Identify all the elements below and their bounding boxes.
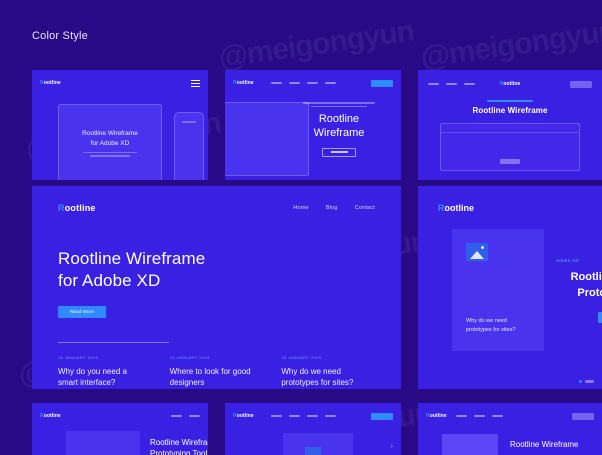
preview-card-main-landing[interactable]: Rootline Home Blog Contact Rootline Wire…: [32, 186, 401, 389]
blog-post-item[interactable]: 15 JANUARY 2019 Why do you need a smart …: [58, 355, 152, 389]
preview-grid: Rootline Rootline Wireframe for Adobe XD…: [0, 0, 602, 455]
blog-post-item[interactable]: 15 JANUARY 2019 Where to look for good d…: [170, 355, 264, 389]
mini-nav-link[interactable]: [307, 82, 318, 84]
preview-card-device-mockup[interactable]: Rootline Rootline Wireframe for Adobe XD: [32, 70, 208, 180]
logo: Rootline: [40, 413, 61, 419]
mini-cta-button[interactable]: [371, 413, 393, 420]
preview-card-split-hero[interactable]: Rootline Rootline Wireframe: [225, 70, 401, 180]
hero-copy: Rootline Wireframe: [287, 102, 391, 157]
mini-nav-link[interactable]: [271, 82, 282, 84]
logo-rest: ootline: [445, 203, 475, 213]
logo-rest: ootline: [430, 413, 447, 419]
logo: Rootline: [233, 413, 254, 419]
mini-nav-links[interactable]: [171, 415, 200, 417]
feature-eyebrow: Adobe XD: [556, 258, 602, 263]
mini-nav-link[interactable]: [446, 83, 457, 85]
mini-navbar: Rootline: [418, 409, 602, 423]
bottom-copy: Rootline Wireframe Prototyping Tool: [150, 437, 208, 455]
mini-nav-link[interactable]: [189, 415, 200, 417]
logo: Rootline: [58, 203, 96, 213]
phone-mockup: [174, 112, 204, 180]
nav-link-contact[interactable]: Contact: [355, 205, 375, 211]
logo: Rootline: [438, 203, 474, 213]
post-title-line1: Why do you need a: [58, 366, 152, 378]
image-placeholder-icon: [305, 447, 321, 455]
nav-link-home[interactable]: Home: [293, 205, 308, 211]
post-date: 15 JANUARY 2019: [58, 355, 152, 360]
tablet-title-line2: for Adobe XD: [91, 139, 130, 148]
image-placeholder-icon: [466, 243, 488, 261]
hero-headline-line2: Wireframe: [287, 127, 391, 141]
hamburger-icon[interactable]: [191, 80, 200, 87]
mini-nav-link[interactable]: [271, 415, 282, 417]
device-stage: Rootline Wireframe for Adobe XD: [32, 90, 208, 180]
preview-card-bottom-feature[interactable]: Rootline Rootline Wireframe: [418, 403, 602, 455]
hero-panel-cta[interactable]: [500, 159, 520, 164]
post-title-line2: prototypes for sites?: [281, 377, 375, 389]
bottom-stage: Rootline Wireframe: [418, 423, 602, 455]
tablet-subtext: [83, 152, 137, 157]
mini-nav-link[interactable]: [464, 83, 475, 85]
hero-headline-line1: Rootline Wireframe: [58, 248, 375, 270]
mini-navbar: Rootline: [32, 409, 208, 423]
read-more-button[interactable]: Read More: [58, 306, 106, 318]
carousel-dot[interactable]: [585, 380, 594, 383]
mini-nav-links[interactable]: [271, 82, 336, 84]
mini-cta-button[interactable]: [570, 81, 592, 88]
mini-nav-link[interactable]: [325, 82, 336, 84]
bottom-stage: Rootline Wireframe Prototyping Tool: [32, 423, 208, 455]
bottom-headline: Rootline Wireframe: [510, 439, 602, 450]
feature-headline-line1: Rootline Wireframe: [556, 270, 602, 286]
post-date: 15 JANUARY 2019: [281, 355, 375, 360]
blog-post-item[interactable]: 15 JANUARY 2019 Why do we need prototype…: [281, 355, 375, 389]
divider: [58, 342, 169, 343]
hero-eyebrow: [287, 102, 391, 107]
page-title: Color Style: [32, 30, 88, 42]
post-title-line1: Where to look for good: [170, 366, 264, 378]
mini-nav-link[interactable]: [325, 415, 336, 417]
post-title-line2: designers: [170, 377, 264, 389]
carousel-dot-active[interactable]: [579, 380, 582, 383]
mini-navbar: Rootline: [225, 409, 401, 423]
preview-card-bottom-landing[interactable]: Rootline Rootline Wireframe Prototyping …: [32, 403, 208, 455]
feature-caption: Why do we need prototypes for sites?: [466, 317, 534, 335]
mini-navbar: Rootline: [418, 77, 602, 91]
feature-caption-line1: Why do we need: [466, 317, 534, 326]
mini-nav-links[interactable]: [456, 415, 503, 417]
bottom-headline-line2: Prototyping Tool: [150, 448, 208, 455]
hero-headline-line1: Rootline: [287, 113, 391, 127]
logo-rest: ootline: [44, 80, 61, 86]
hero-headline-line2: for Adobe XD: [58, 270, 375, 292]
nav-links: Home Blog Contact: [293, 205, 375, 211]
mini-nav-links[interactable]: [271, 415, 336, 417]
feature-copy: Adobe XD Rootline Wireframe Prototyping …: [556, 258, 602, 323]
logo: Rootline: [426, 413, 447, 419]
logo: Rootline: [233, 80, 254, 86]
logo-rest: ootline: [65, 203, 96, 213]
hero-section: Rootline Wireframe for Adobe XD Read Mor…: [32, 248, 401, 318]
logo-initial: R: [58, 203, 65, 213]
logo: Rootline: [500, 81, 521, 87]
mini-nav-links-left[interactable]: [428, 83, 475, 85]
bottom-image-block: [66, 431, 140, 455]
navbar: Rootline Home Blog Contact: [32, 196, 401, 220]
logo-rest: ootline: [237, 413, 254, 419]
mini-nav-link[interactable]: [171, 415, 182, 417]
tablet-title-line1: Rootline Wireframe: [82, 129, 138, 138]
hero-cta-button[interactable]: [322, 148, 356, 157]
bottom-copy: Rootline Wireframe: [510, 439, 602, 450]
mini-nav-link[interactable]: [289, 415, 300, 417]
bottom-image-block: [442, 434, 498, 455]
nav-link-blog[interactable]: Blog: [326, 205, 338, 211]
feature-caption-line2: prototypes for sites?: [466, 326, 534, 335]
bottom-image-block: [283, 433, 353, 455]
read-more-button[interactable]: Read More: [598, 312, 602, 323]
carousel-dots[interactable]: [579, 380, 594, 383]
preview-card-bottom-gallery[interactable]: Rootline ›: [225, 403, 401, 455]
mini-cta-button[interactable]: [371, 80, 393, 87]
mini-navbar: Rootline: [225, 76, 401, 90]
mini-nav-link[interactable]: [289, 82, 300, 84]
mini-navbar: Rootline: [32, 76, 208, 90]
bottom-headline-line1: Rootline Wireframe: [150, 437, 208, 448]
mini-nav-link[interactable]: [456, 415, 467, 417]
bottom-stage: ›: [225, 423, 401, 455]
logo-rest: ootline: [503, 81, 520, 87]
post-title-line1: Why do we need: [281, 366, 375, 378]
tablet-mockup: Rootline Wireframe for Adobe XD: [58, 104, 162, 180]
mini-nav-link[interactable]: [474, 415, 485, 417]
mini-nav-link[interactable]: [428, 83, 439, 85]
hero-eyebrow: [487, 100, 533, 102]
feature-image-panel: Why do we need prototypes for sites?: [452, 229, 544, 351]
carousel-next-icon[interactable]: ›: [391, 443, 393, 450]
hero-stage: Rootline Wireframe: [225, 90, 401, 180]
preview-card-centered-hero[interactable]: Rootline Rootline Wireframe: [418, 70, 602, 180]
mini-nav-link[interactable]: [492, 415, 503, 417]
feature-headline-line2: Prototyping Tool: [556, 286, 602, 302]
logo-rest: ootline: [237, 80, 254, 86]
mini-cta-button[interactable]: [572, 413, 594, 420]
blog-post-list: 15 JANUARY 2019 Why do you need a smart …: [32, 355, 401, 389]
mini-nav-link[interactable]: [307, 415, 318, 417]
preview-card-image-feature[interactable]: Rootline Why do we need prototypes for s…: [418, 186, 602, 389]
logo: Rootline: [40, 80, 61, 86]
hero-headline: Rootline Wireframe: [418, 106, 602, 115]
logo-rest: ootline: [44, 413, 61, 419]
post-date: 15 JANUARY 2019: [170, 355, 264, 360]
hero-stage: Rootline Wireframe: [418, 100, 602, 171]
post-title-line2: smart interface?: [58, 377, 152, 389]
hero-panel: [440, 123, 580, 171]
